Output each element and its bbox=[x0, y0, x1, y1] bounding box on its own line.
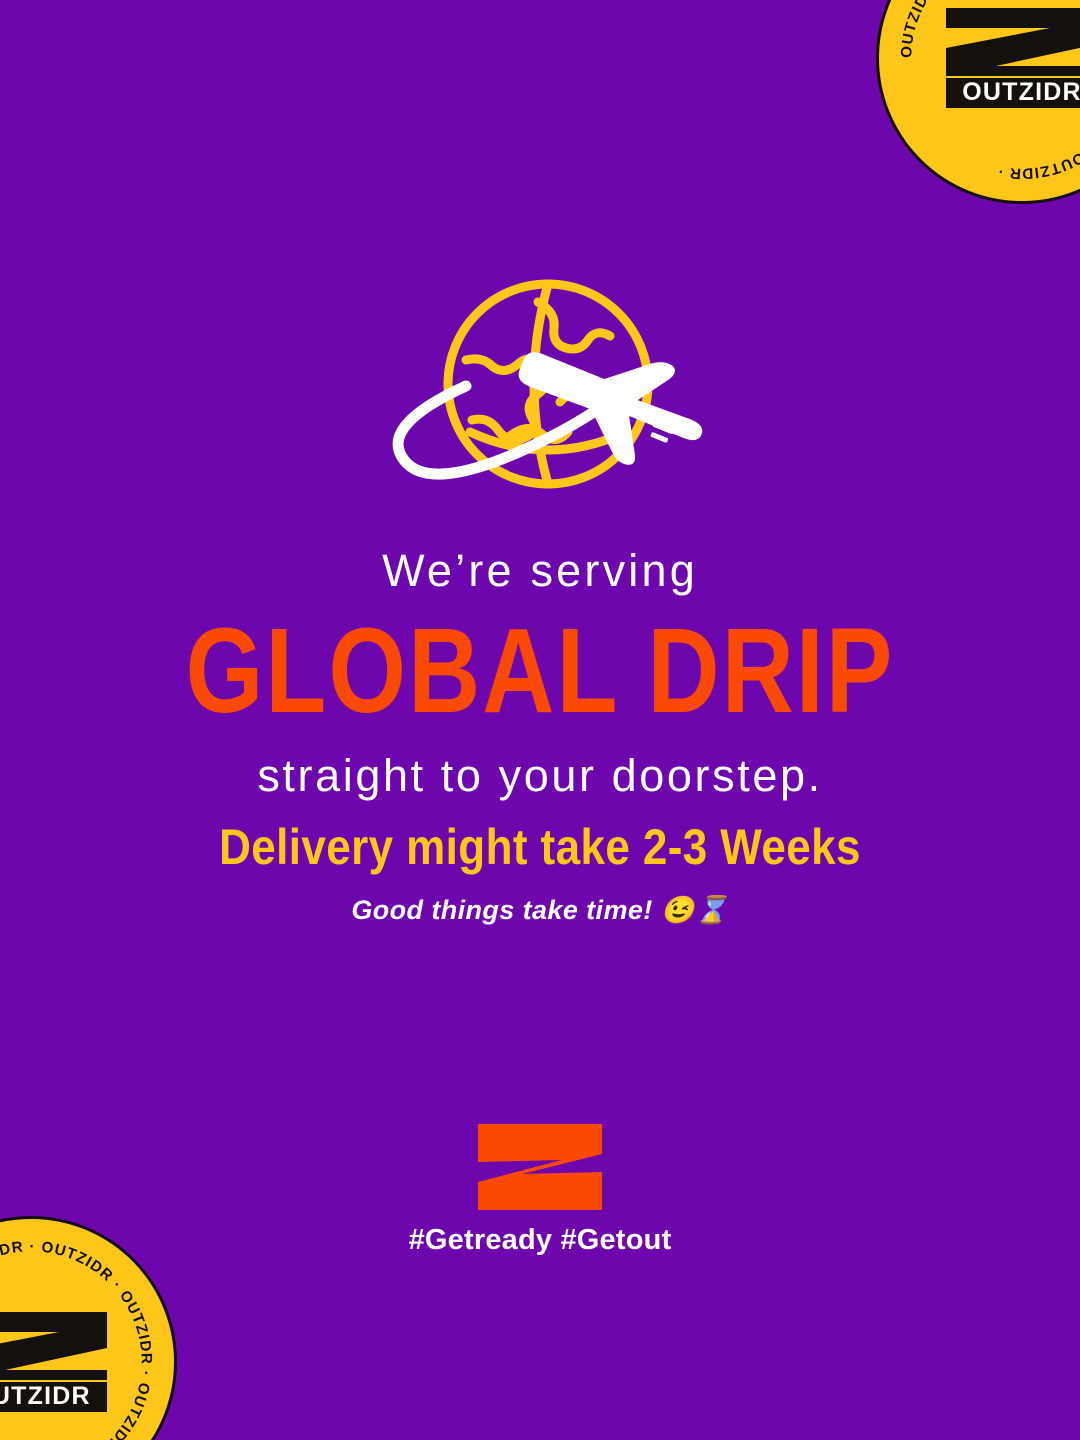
outzidr-z-logo bbox=[478, 1124, 602, 1210]
badge-core-logo: OUTZIDR bbox=[938, 4, 1080, 112]
svg-text:OUTZIDR: OUTZIDR bbox=[962, 78, 1080, 106]
hashtags-text: #Getready #Getout bbox=[0, 1224, 1080, 1257]
promo-poster: OUTZIDR · OUTZIDR · OUTZIDR · OUTZIDR · … bbox=[0, 0, 1080, 1440]
delivery-subnote: Good things take time! 😉⌛ bbox=[0, 897, 1080, 924]
headline-block: We’re serving GLOBAL DRIP straight to yo… bbox=[0, 548, 1080, 798]
svg-text:OUTZIDR: OUTZIDR bbox=[0, 1382, 91, 1410]
delivery-notice: Delivery might take 2-3 Weeks bbox=[0, 823, 1080, 873]
globe-airplane-icon bbox=[370, 272, 710, 502]
delivery-notice-block: Delivery might take 2-3 Weeks Good thing… bbox=[0, 823, 1080, 924]
eyebrow-text: We’re serving bbox=[0, 548, 1080, 593]
badge-core-logo: OUTZIDR bbox=[0, 1308, 115, 1416]
globe-airplane-illustration bbox=[0, 272, 1080, 502]
page-title: GLOBAL DRIP bbox=[0, 611, 1080, 732]
subhead-text: straight to your doorstep. bbox=[0, 753, 1080, 798]
brand-badge-top-right: OUTZIDR · OUTZIDR · OUTZIDR · OUTZIDR · … bbox=[876, 0, 1080, 204]
footer-block: #Getready #Getout bbox=[0, 1124, 1080, 1257]
